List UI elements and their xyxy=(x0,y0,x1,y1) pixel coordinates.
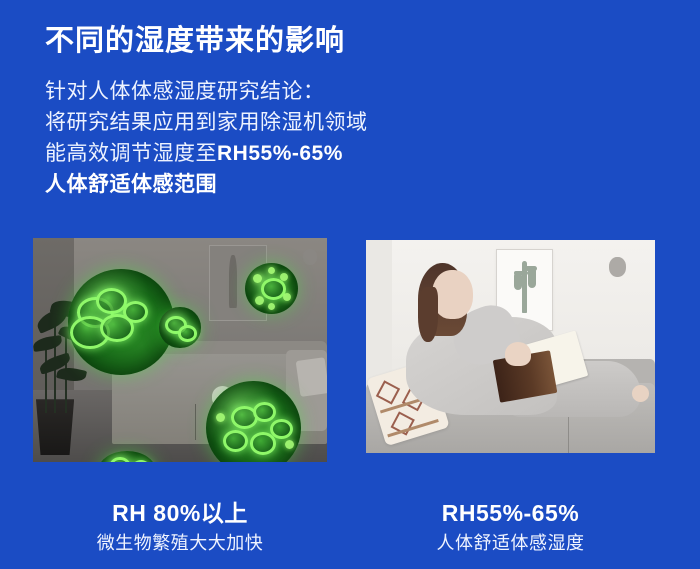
cactus-branch xyxy=(514,271,528,276)
microbe-cell xyxy=(131,460,151,462)
panel-image-comfort-humidity xyxy=(366,240,655,453)
microbe-sphere-large xyxy=(68,269,174,374)
sofa-seat-seam xyxy=(195,404,196,440)
microbe-spike xyxy=(285,440,294,449)
person-foot xyxy=(632,385,649,402)
microbe-cell xyxy=(261,278,286,299)
microbe-spike xyxy=(216,413,225,422)
microbe-cell xyxy=(178,325,198,342)
person-head xyxy=(432,270,472,319)
body-line-4: 人体舒适体感范围 xyxy=(45,169,565,200)
body-line-3: 能高效调节湿度至RH55%-65% xyxy=(45,138,565,169)
microbe-sphere-small xyxy=(159,307,200,347)
caption-comfort-humidity: RH55%-65% 人体舒适体感湿度 xyxy=(366,498,655,556)
wall-knob xyxy=(609,257,626,277)
caption-subtitle: 微生物繁殖大大加快 xyxy=(33,531,327,556)
microbe-sphere-bottom xyxy=(206,381,300,462)
body-line-3-value: RH55%-65% xyxy=(217,142,343,165)
sofa-cushion xyxy=(295,357,327,397)
body-copy-block: 针对人体体感湿度研究结论： 将研究结果应用到家用除湿机领域 能高效调节湿度至RH… xyxy=(45,76,565,200)
microbe-spike xyxy=(253,274,262,283)
plant-stem xyxy=(45,341,47,413)
scene-bright-living-room xyxy=(366,240,655,453)
microbe-cell xyxy=(223,430,248,452)
scene-dim-living-room xyxy=(33,238,327,462)
microbe-cell xyxy=(123,301,148,323)
panel-image-high-humidity xyxy=(33,238,327,462)
body-line-3-lead: 能高效调节湿度至 xyxy=(45,142,217,165)
microbe-spike xyxy=(280,273,288,281)
microbe-cell xyxy=(270,419,293,439)
person-hair-strand xyxy=(418,287,438,342)
caption-title: RH55%-65% xyxy=(366,498,655,528)
microbe-cell xyxy=(109,457,130,462)
microbe-spike xyxy=(268,267,275,274)
body-line-2: 将研究结果应用到家用除湿机领域 xyxy=(45,107,565,138)
caption-subtitle: 人体舒适体感湿度 xyxy=(366,531,655,556)
caption-title: RH 80%以上 xyxy=(33,498,327,528)
page-title: 不同的湿度带来的影响 xyxy=(45,17,345,59)
microbe-cell xyxy=(253,402,276,422)
microbe-spike xyxy=(255,296,264,305)
caption-high-humidity: RH 80%以上 微生物繁殖大大加快 xyxy=(33,498,327,556)
microbe-sphere-hanging xyxy=(245,263,298,315)
body-line-1: 针对人体体感湿度研究结论： xyxy=(45,76,565,107)
microbe-spike xyxy=(268,303,275,310)
microbe-spike xyxy=(283,293,291,301)
cactus-branch xyxy=(525,266,537,271)
humidity-infographic-poster: 不同的湿度带来的影响 针对人体体感湿度研究结论： 将研究结果应用到家用除湿机领域… xyxy=(0,0,700,569)
pillow-motif xyxy=(375,380,399,404)
person-hand xyxy=(505,342,531,365)
